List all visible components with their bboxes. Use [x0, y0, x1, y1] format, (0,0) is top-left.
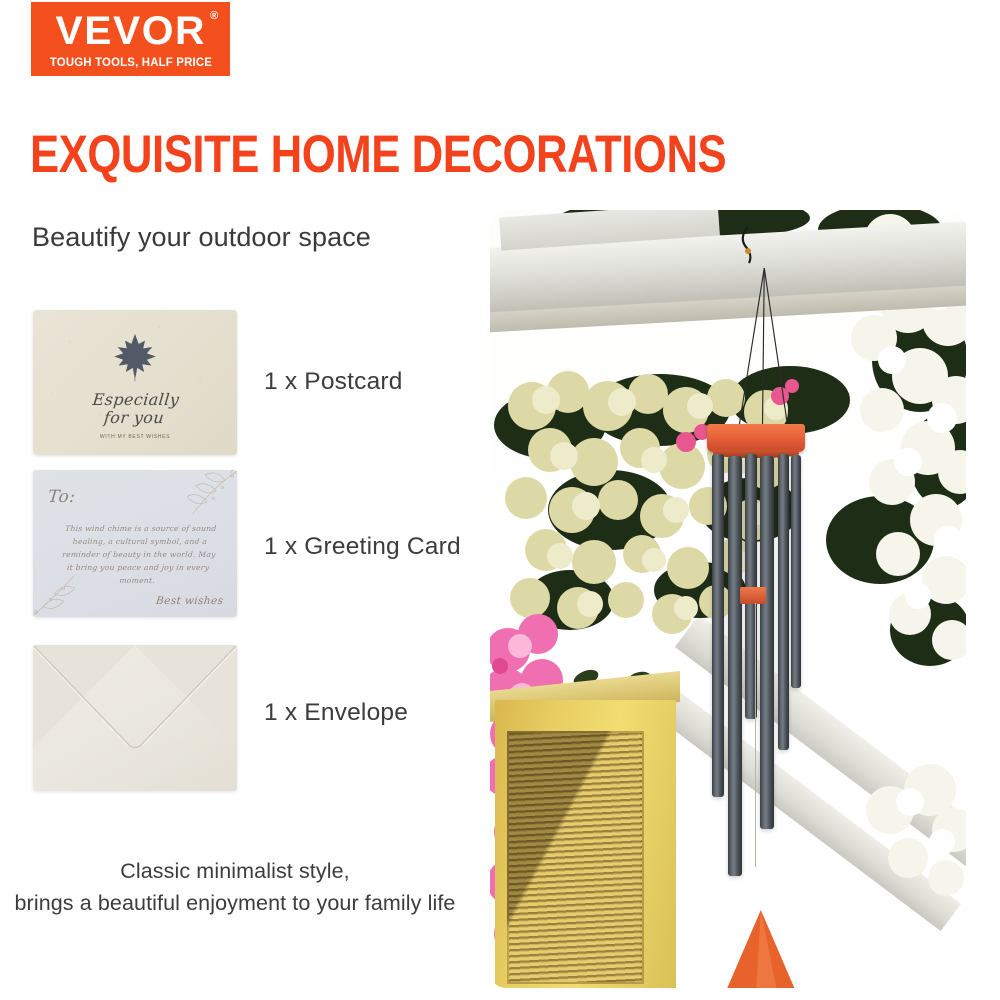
chime-tube-1	[712, 454, 724, 796]
postcard-script: Especially for you	[33, 391, 237, 427]
postcard-script-line1: Especially	[92, 390, 180, 409]
footer-caption-line2: brings a beautiful enjoyment to your fam…	[0, 887, 470, 919]
page-subtitle: Beautify your outdoor space	[32, 222, 371, 253]
chime-wind-sail	[718, 910, 804, 988]
brand-name: VEVOR	[55, 9, 205, 53]
chime-top-disc	[707, 424, 805, 452]
maple-leaf-icon	[112, 332, 158, 382]
greeting-signoff: Best wishes	[155, 595, 223, 607]
vevor-logo: VEVOR ® TOUGH TOOLS, HALF PRICE	[31, 2, 230, 76]
chime-tube-5	[778, 454, 789, 750]
chime-clapper	[740, 587, 766, 604]
item-label-envelope: 1 x Envelope	[264, 699, 408, 727]
footer-caption: Classic minimalist style, brings a beaut…	[0, 855, 470, 920]
chime-tube-2	[728, 456, 742, 876]
footer-caption-line1: Classic minimalist style,	[0, 855, 470, 887]
postcard-image: Especially for you WITH MY BEST WISHES	[33, 310, 237, 455]
chime-tube-6	[791, 455, 801, 688]
greeting-salutation: To:	[47, 487, 76, 507]
page-title: EXQUISITE HOME DECORATIONS	[30, 127, 726, 180]
chime-hook-icon	[739, 227, 757, 265]
product-photo	[490, 210, 966, 988]
envelope-image	[33, 645, 237, 791]
postcard-wishes: WITH MY BEST WISHES	[33, 434, 237, 440]
envelope-crease-lines	[33, 645, 237, 791]
shutter-shadow	[507, 731, 640, 980]
item-label-postcard: 1 x Postcard	[264, 368, 403, 396]
postcard-script-line2: for you	[33, 409, 237, 427]
greeting-body-text: This wind chime is a source of sound hea…	[57, 522, 222, 587]
registered-trademark-icon: ®	[210, 11, 218, 22]
brand-wordmark: VEVOR ®	[55, 11, 205, 51]
greeting-card-image: To: This wind chime is a source of sound…	[33, 470, 237, 617]
brand-tagline: TOUGH TOOLS, HALF PRICE	[49, 57, 211, 69]
chime-tube-4	[760, 456, 774, 829]
chime-suspension-strings	[730, 268, 797, 439]
item-label-greeting-card: 1 x Greeting Card	[264, 533, 461, 561]
chime-sail-cord	[755, 603, 756, 868]
